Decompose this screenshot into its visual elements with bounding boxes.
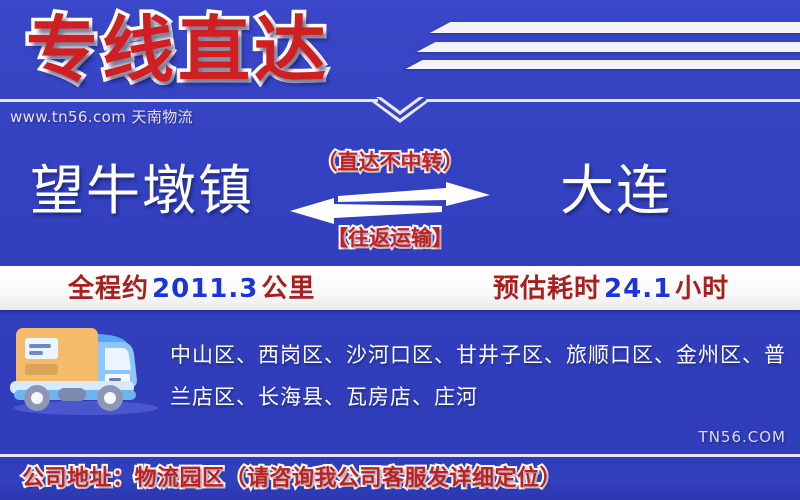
speed-stripe-1	[430, 22, 800, 33]
speed-stripe-2	[417, 42, 800, 52]
distance-label: 全程约	[68, 274, 149, 304]
distance-metric: 全程约2011.3公里	[68, 269, 315, 309]
route-tag-direct: （直达不中转）	[290, 146, 490, 176]
site-url-label: www.tn56.com 天南物流	[10, 106, 193, 127]
watermark-label: TN56.COM	[699, 428, 786, 446]
duration-label: 预估耗时	[493, 274, 601, 304]
duration-metric: 预估耗时24.1小时	[493, 269, 729, 309]
route-tag-roundtrip: 【往返运输】	[290, 222, 490, 252]
header-divider-left	[0, 99, 378, 102]
header-divider-right	[426, 99, 800, 102]
destination-city: 大连	[560, 156, 672, 226]
route-row: 望牛墩镇 （直达不中转） 【往返运输】 大连	[0, 140, 800, 260]
chevron-down-icon	[368, 97, 432, 125]
bidirectional-arrow-icon	[286, 182, 494, 224]
coverage-area-list: 中山区、西岗区、沙河口区、甘井子区、旅顺口区、金州区、普兰店区、长海县、瓦房店、…	[170, 334, 786, 418]
delivery-truck-icon	[6, 318, 168, 416]
speed-stripe-3	[406, 60, 800, 69]
metrics-band: 全程约2011.3公里 预估耗时24.1小时	[0, 266, 800, 310]
origin-city: 望牛墩镇	[30, 156, 254, 226]
company-address-label: 公司地址：物流园区（请咨询我公司客服发详细定位）	[22, 462, 562, 496]
duration-value: 24.1	[601, 274, 675, 304]
distance-unit: 公里	[261, 274, 315, 304]
distance-value: 2011.3	[149, 274, 261, 304]
banner-headline: 专线直达	[26, 2, 330, 98]
route-middle-group: （直达不中转） 【往返运输】	[290, 140, 490, 260]
logistics-route-banner: 专线直达 www.tn56.com 天南物流 望牛墩镇 （直达不中转） 【往返运…	[0, 0, 800, 500]
duration-unit: 小时	[675, 274, 729, 304]
